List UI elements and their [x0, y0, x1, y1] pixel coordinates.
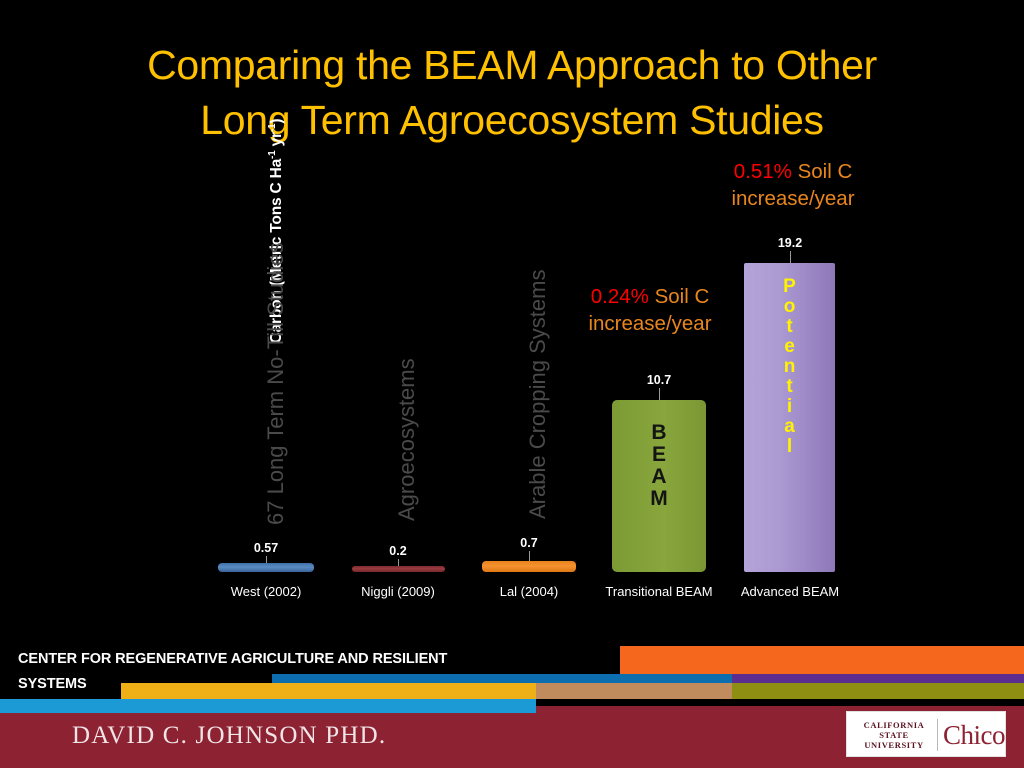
csu-logo-line-3: UNIVERSITY [855, 740, 933, 750]
category-label-niggli: Niggli (2009) [338, 584, 458, 599]
callout-transitional-beam-rest: Soil C [649, 285, 709, 308]
slide-canvas: Comparing the BEAM Approach to Other Lon… [0, 0, 1024, 768]
callout-advanced-beam-percent: 0.51% [734, 160, 792, 183]
bar-value-label-lal: 0.7 [469, 536, 589, 550]
bar-advanced-beam[interactable]: Potential [744, 263, 835, 572]
bar-value-label-niggli: 0.2 [338, 544, 458, 558]
stripe-blue-light-overlay [0, 699, 536, 713]
y-axis-title-sup-2: -1 [267, 124, 278, 133]
csu-chico-logo-text: CALIFORNIA STATE UNIVERSITY [855, 720, 933, 750]
leader-line-transitional-beam [659, 388, 660, 400]
group-annotation-no-till: 67 Long Term No-Till Studies [263, 243, 289, 525]
bar-value-label-west: 0.57 [206, 541, 326, 555]
callout-advanced-beam: 0.51% Soil C increase/year [648, 158, 938, 212]
bar-value-label-transitional-beam: 10.7 [599, 373, 719, 387]
stripe-tan [536, 683, 732, 699]
leader-line-lal [529, 551, 530, 561]
csu-logo-line-1: CALIFORNIA [855, 720, 933, 730]
y-axis-title-tail: ) [268, 119, 285, 124]
y-axis-title-sup-1: -1 [267, 150, 278, 159]
presenter-name: DAVID C. JOHNSON PHD. [72, 722, 386, 750]
bar-niggli[interactable] [352, 566, 445, 572]
callout-advanced-beam-line-2: increase/year [648, 185, 938, 212]
chico-wordmark: Chico [943, 718, 1005, 752]
bar-inner-label-potential: Potential [744, 277, 835, 456]
category-label-west: West (2002) [206, 584, 326, 599]
category-label-transitional-beam: Transitional BEAM [599, 584, 719, 599]
csu-chico-logo: CALIFORNIA STATE UNIVERSITY Chico [846, 711, 1006, 757]
callout-advanced-beam-line-1: 0.51% Soil C [648, 158, 938, 185]
stripe-gold [121, 683, 536, 699]
bar-chart: Carbon (Metric Tons C Ha-1 yr-1) 67 Long… [0, 0, 1024, 640]
stripe-olive [732, 683, 1024, 699]
category-label-advanced-beam: Advanced BEAM [730, 584, 850, 599]
category-label-lal: Lal (2004) [469, 584, 589, 599]
bar-value-label-advanced-beam: 19.2 [730, 236, 850, 250]
bar-west[interactable] [218, 563, 314, 572]
organization-name-line-1: CENTER FOR REGENERATIVE AGRICULTURE AND … [18, 647, 538, 672]
bar-inner-label-beam: BEAM [612, 422, 706, 510]
callout-transitional-beam-percent: 0.24% [591, 285, 649, 308]
leader-line-advanced-beam [790, 251, 791, 263]
csu-logo-line-2: STATE [855, 730, 933, 740]
stripe-orange [620, 646, 1024, 674]
logo-divider [937, 719, 938, 751]
callout-advanced-beam-rest: Soil C [792, 160, 852, 183]
bar-transitional-beam[interactable]: BEAM [612, 400, 706, 572]
y-axis-title-mid: yr [268, 132, 285, 150]
bar-lal[interactable] [482, 561, 576, 572]
group-annotation-agroecosystems: Agroecosystems [394, 358, 420, 521]
